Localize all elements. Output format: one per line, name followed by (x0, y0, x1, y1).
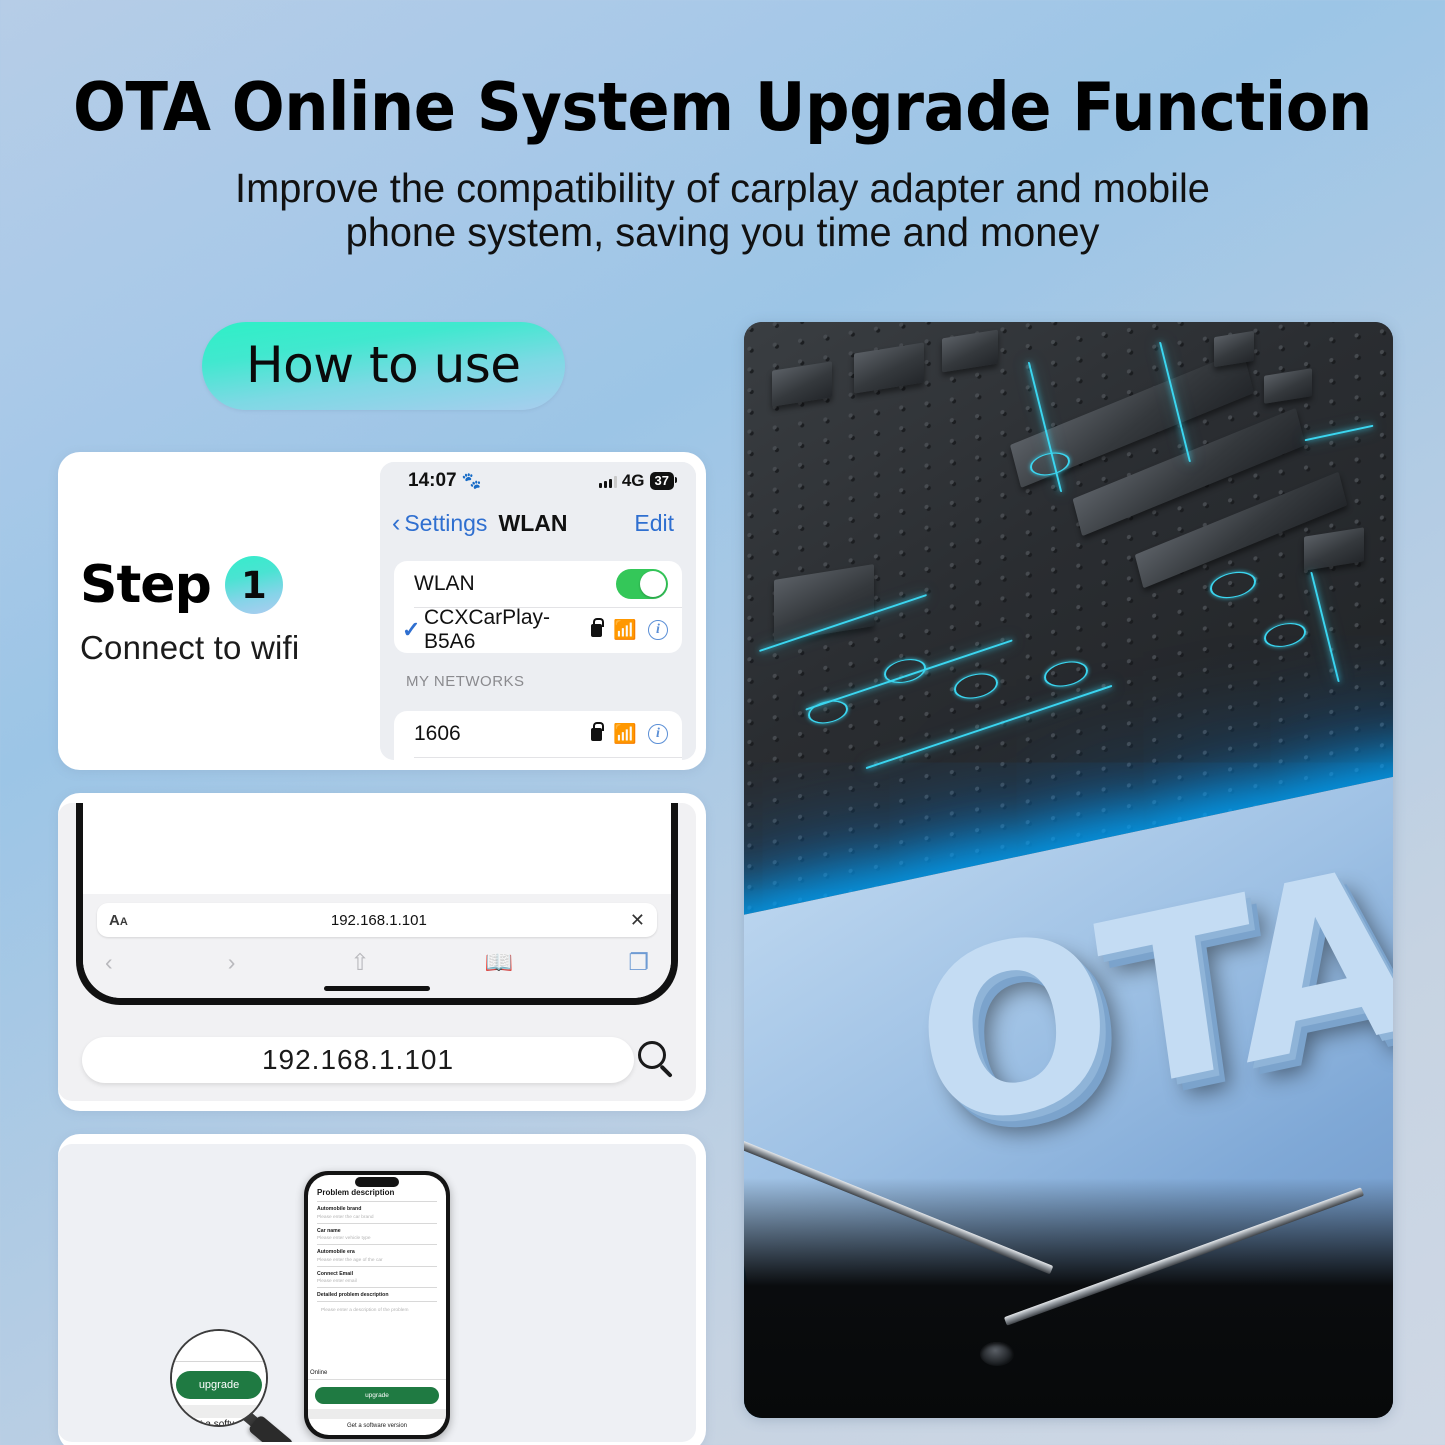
detail-field: Detailed problem description Please ente… (317, 1292, 437, 1313)
divider (317, 1223, 437, 1224)
step-1-media: 14:07 🐾 4G 37 ‹ (380, 462, 696, 760)
status-time: 14:07 (408, 470, 457, 492)
form-field: Connect Email Please enter email (317, 1271, 437, 1285)
network-row[interactable]: 1606 📶 i (394, 711, 682, 757)
phone-screen-browser: AA 192.168.1.101 ✕ ‹ › ⇧ 📖 ❐ (83, 803, 671, 998)
footer-note: Get a software version (308, 1419, 446, 1435)
form-field: Automobile era Please enter the age of t… (317, 1249, 437, 1263)
back-to-settings-button[interactable]: ‹ Settings (392, 510, 499, 537)
ota-image-column: OTA (744, 322, 1393, 1445)
wlan-group: WLAN ✓ CCXCarPlay-B5A6 📶 i (394, 561, 682, 653)
ios-nav-bar: ‹ Settings WLAN Edit (380, 500, 696, 546)
main-content: How to use Step 1 Connect to wifi (0, 322, 1445, 1445)
status-right: 4G 37 (599, 471, 674, 491)
step-1-number-badge: 1 (225, 556, 283, 614)
field-label: Car name (317, 1228, 437, 1234)
page-title: OTA Online System Upgrade Function (51, 74, 1395, 141)
step-3-media: Problem description Automobile brand Ple… (58, 1144, 696, 1442)
search-input[interactable]: 192.168.1.101 (82, 1037, 634, 1083)
board-chip (854, 342, 924, 393)
divider (317, 1244, 437, 1245)
network-icons: 📶 i (591, 722, 668, 746)
field-label: Automobile brand (317, 1206, 437, 1212)
network-type-label: 4G (622, 471, 645, 491)
field-placeholder[interactable]: Please enter vehicle type (317, 1236, 437, 1241)
divider (172, 1361, 266, 1362)
divider (317, 1266, 437, 1267)
divider (308, 1379, 446, 1380)
how-to-use-wrapper: How to use (58, 322, 706, 410)
step-1-word: Step (80, 555, 211, 615)
form-footer: Online upgrade Get a software version (308, 1370, 446, 1435)
field-label: Automobile era (317, 1249, 437, 1255)
back-icon[interactable]: ‹ (105, 949, 113, 976)
page-subtitle: Improve the compatibility of carplay ada… (22, 166, 1424, 255)
edit-button[interactable]: Edit (567, 510, 674, 537)
phone-screen-form: Problem description Automobile brand Ple… (308, 1175, 446, 1435)
phone-notch (355, 1177, 399, 1187)
step-2-media: AA 192.168.1.101 ✕ ‹ › ⇧ 📖 ❐ (58, 803, 696, 1101)
subtitle-line-2: phone system, saving you time and money (22, 210, 1424, 254)
battery-indicator: 37 (650, 472, 674, 490)
share-icon[interactable]: ⇧ (350, 949, 369, 976)
paw-icon: 🐾 (462, 471, 482, 491)
field-label: Connect Email (317, 1271, 437, 1277)
board-chip (1304, 527, 1364, 571)
ios-wlan-screen: 14:07 🐾 4G 37 ‹ (380, 462, 696, 760)
board-chip (1214, 331, 1254, 367)
home-indicator (83, 980, 671, 998)
screw-hole (980, 1342, 1014, 1366)
ota-circuit-board-image: OTA (744, 322, 1393, 1418)
forward-icon[interactable]: › (228, 949, 236, 976)
chevron-left-icon: ‹ (392, 511, 400, 536)
back-label: Settings (404, 510, 487, 537)
board-chip (1264, 368, 1312, 404)
wifi-icon: 📶 (613, 618, 637, 642)
wifi-icon: 📶 (613, 722, 637, 746)
status-left: 14:07 🐾 (408, 470, 482, 492)
online-label: Online (308, 1370, 446, 1379)
wlan-toggle-switch[interactable] (616, 569, 668, 599)
detail-label: Detailed problem description (317, 1292, 437, 1298)
subtitle-line-1: Improve the compatibility of carplay ada… (22, 166, 1424, 210)
magnified-upgrade-button[interactable]: upgrade (176, 1371, 262, 1399)
field-placeholder[interactable]: Please enter the age of the car (317, 1258, 437, 1263)
my-networks-group: 1606 📶 i 1606-5G (394, 711, 682, 760)
phone-shadow (311, 1441, 443, 1442)
wlan-toggle-row[interactable]: WLAN (394, 561, 682, 607)
magnifier-icon: upgrade Get a software version (170, 1329, 268, 1427)
steps-column: How to use Step 1 Connect to wifi (58, 322, 706, 1445)
signal-icon (599, 475, 617, 488)
ios-status-bar: 14:07 🐾 4G 37 (380, 462, 696, 500)
lock-icon (591, 624, 602, 637)
field-placeholder[interactable]: Please enter email (317, 1279, 437, 1284)
upgrade-button[interactable]: upgrade (315, 1387, 439, 1404)
step-cards: Step 1 Connect to wifi 14:07 🐾 (58, 452, 706, 1445)
phone-frame-browser: AA 192.168.1.101 ✕ ‹ › ⇧ 📖 ❐ (76, 803, 678, 1005)
detail-placeholder[interactable]: Please enter a description of the proble… (317, 1308, 437, 1313)
lock-icon (591, 728, 602, 741)
step-card-1: Step 1 Connect to wifi 14:07 🐾 (58, 452, 706, 770)
step-1-description: Connect to wifi (80, 629, 380, 667)
spacer (172, 1405, 266, 1418)
how-to-use-badge: How to use (202, 322, 565, 410)
connected-network-row[interactable]: ✓ CCXCarPlay-B5A6 📶 i (394, 607, 682, 653)
spacer (308, 1409, 446, 1419)
divider (317, 1287, 437, 1288)
form-field: Automobile brand Please enter the car br… (317, 1206, 437, 1220)
step-card-3: Step 3 Online Upgrade Problem descriptio… (58, 1134, 706, 1445)
step-1-heading: Step 1 (80, 555, 380, 615)
network-name: 1606 (414, 722, 591, 746)
wlan-row-label: WLAN (414, 572, 616, 596)
my-networks-header: MY NETWORKS (380, 653, 696, 696)
phone-frame-form: Problem description Automobile brand Ple… (304, 1171, 450, 1439)
form-field: Car name Please enter vehicle type (317, 1228, 437, 1242)
board-chip (942, 330, 998, 373)
divider (317, 1201, 437, 1202)
page-header: OTA Online System Upgrade Function Impro… (0, 0, 1445, 255)
browser-toolbar: ‹ › ⇧ 📖 ❐ (83, 942, 671, 980)
info-icon[interactable]: i (648, 620, 668, 640)
bookmarks-icon[interactable]: 📖 (485, 949, 514, 976)
checkmark-icon: ✓ (402, 617, 424, 643)
tabs-icon[interactable]: ❐ (628, 949, 649, 976)
close-icon[interactable]: ✕ (630, 911, 645, 929)
divider (317, 1301, 437, 1302)
browser-url-bar: AA 192.168.1.101 ✕ (83, 894, 671, 942)
form-title: Problem description (317, 1188, 437, 1197)
connected-network-name: CCXCarPlay-B5A6 (424, 606, 591, 653)
connected-network-icons: 📶 i (591, 618, 668, 642)
ios-screen-title: WLAN (499, 510, 568, 537)
magnified-view: upgrade Get a software version (172, 1331, 266, 1425)
url-text: 192.168.1.101 (128, 912, 630, 929)
url-pill[interactable]: AA 192.168.1.101 ✕ (97, 903, 657, 937)
network-row[interactable]: 1606-5G 📶 i (394, 757, 682, 760)
magnifier-icon (638, 1041, 678, 1081)
step-1-text: Step 1 Connect to wifi (58, 452, 380, 770)
board-chip (772, 361, 832, 407)
text-size-icon[interactable]: AA (109, 912, 128, 929)
step-card-2: Step 2 Open the web site AA 192.168.1.10… (58, 793, 706, 1111)
field-placeholder[interactable]: Please enter the car brand (317, 1215, 437, 1220)
info-icon[interactable]: i (648, 724, 668, 744)
